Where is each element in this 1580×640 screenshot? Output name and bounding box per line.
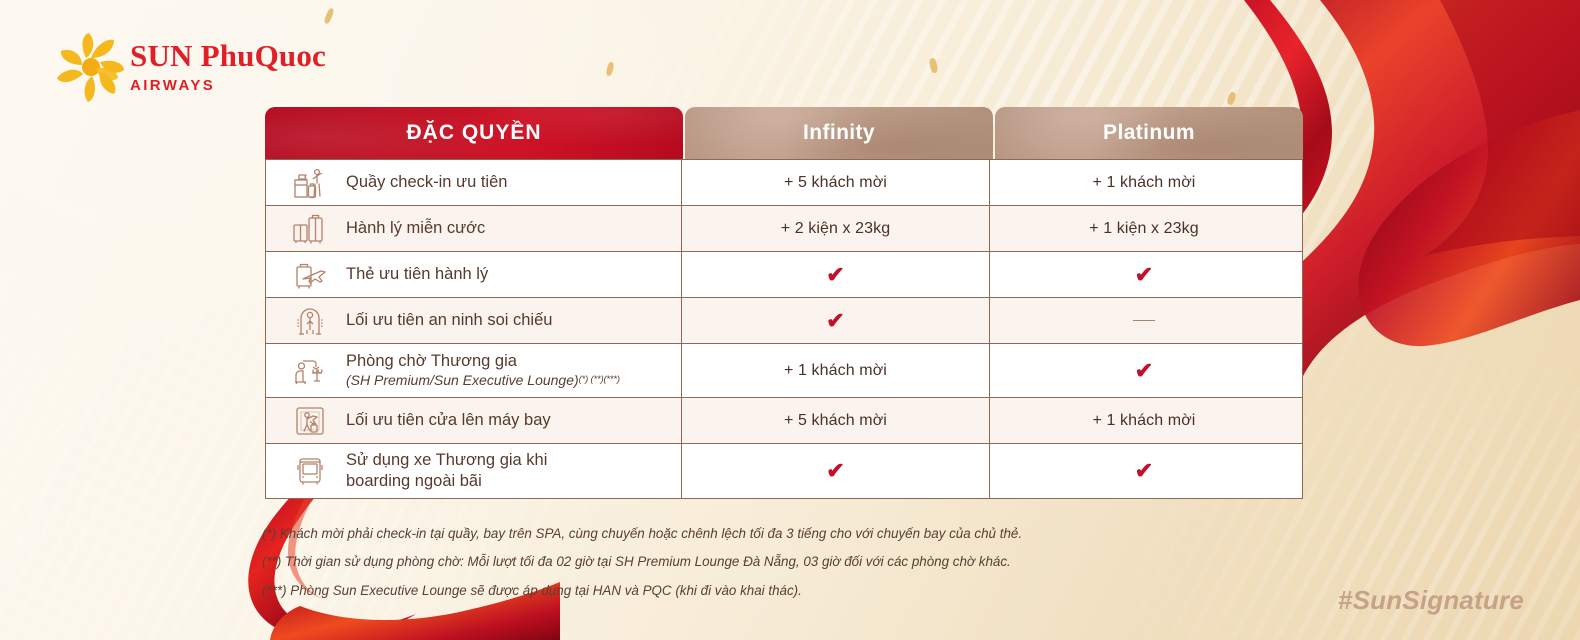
confetti-fleck bbox=[929, 57, 939, 73]
footnote-3: (***) Phòng Sun Executive Lounge sẽ được… bbox=[262, 584, 1262, 597]
confetti-fleck bbox=[605, 61, 614, 76]
value-text: + 2 kiện x 23kg bbox=[781, 220, 891, 238]
brand-wordmark: SUN PhuQuoc AIRWAYS bbox=[130, 40, 326, 94]
benefit-text: Quầy check-in ưu tiên bbox=[346, 172, 507, 193]
value-text: + 5 khách mời bbox=[784, 412, 887, 430]
column-header-infinity: Infinity bbox=[685, 107, 993, 159]
benefit-text: Hành lý miễn cước bbox=[346, 218, 485, 239]
benefit-title: Phòng chờ Thương gia bbox=[346, 351, 620, 372]
column-header-platinum: Platinum bbox=[995, 107, 1303, 159]
campaign-hashtag: #SunSignature bbox=[1338, 585, 1524, 616]
benefit-title: Quầy check-in ưu tiên bbox=[346, 172, 507, 193]
benefit-title: Lối ưu tiên an ninh soi chiếu bbox=[346, 310, 552, 331]
value-text: + 5 khách mời bbox=[784, 174, 887, 192]
table-row: Sử dụng xe Thương gia khiboarding ngoài … bbox=[266, 444, 1302, 498]
confetti-fleck bbox=[1226, 91, 1237, 106]
priority-baggage-tag-icon bbox=[288, 253, 332, 297]
table-body: Quầy check-in ưu tiên+ 5 khách mời+ 1 kh… bbox=[265, 159, 1303, 499]
column-header-infinity-label: Infinity bbox=[803, 121, 875, 145]
footnotes: (*) Khách mời phải check-in tại quầy, ba… bbox=[262, 527, 1262, 612]
check-icon: ✔ bbox=[1135, 360, 1154, 382]
value-cell-platinum: ✔ bbox=[990, 252, 1298, 297]
check-icon: ✔ bbox=[826, 264, 845, 286]
value-cell-platinum: + 1 kiện x 23kg bbox=[990, 206, 1298, 251]
luggage-icon bbox=[288, 207, 332, 251]
column-header-privilege-label: ĐẶC QUYỀN bbox=[406, 121, 541, 145]
benefit-cell: Phòng chờ Thương gia(SH Premium/Sun Exec… bbox=[266, 344, 682, 397]
confetti-fleck bbox=[1342, 223, 1354, 233]
value-text: + 1 kiện x 23kg bbox=[1089, 220, 1199, 238]
footnote-1: (*) Khách mời phải check-in tại quầy, ba… bbox=[262, 527, 1262, 540]
check-icon: ✔ bbox=[826, 310, 845, 332]
benefit-title: Thẻ ưu tiên hành lý bbox=[346, 264, 488, 285]
value-cell-platinum: + 1 khách mời bbox=[990, 160, 1298, 205]
brand-logo[interactable]: SUN PhuQuoc AIRWAYS bbox=[56, 32, 386, 104]
footnote-2: (**) Thời gian sử dụng phòng chờ: Mỗi lư… bbox=[262, 555, 1262, 568]
benefit-text: Lối ưu tiên an ninh soi chiếu bbox=[346, 310, 552, 331]
table-row: Lối ưu tiên cửa lên máy bay+ 5 khách mời… bbox=[266, 398, 1302, 444]
column-header-privilege: ĐẶC QUYỀN bbox=[265, 107, 683, 159]
benefit-cell: Lối ưu tiên cửa lên máy bay bbox=[266, 398, 682, 443]
check-icon: ✔ bbox=[1135, 264, 1154, 286]
benefit-title: Sử dụng xe Thương gia khi bbox=[346, 450, 547, 471]
value-cell-infinity: ✔ bbox=[682, 444, 990, 498]
benefit-subtitle: boarding ngoài bãi bbox=[346, 471, 547, 492]
benefit-title: Lối ưu tiên cửa lên máy bay bbox=[346, 410, 551, 431]
business-lounge-icon bbox=[288, 349, 332, 393]
table-row: Lối ưu tiên an ninh soi chiếu✔ bbox=[266, 298, 1302, 344]
brand-name: SUN PhuQuoc bbox=[130, 40, 326, 71]
value-cell-infinity: + 2 kiện x 23kg bbox=[682, 206, 990, 251]
table-row: Phòng chờ Thương gia(SH Premium/Sun Exec… bbox=[266, 344, 1302, 398]
value-cell-infinity: + 5 khách mời bbox=[682, 398, 990, 443]
value-cell-platinum: ✔ bbox=[990, 444, 1298, 498]
confetti-fleck bbox=[323, 7, 335, 24]
value-cell-platinum bbox=[990, 298, 1298, 343]
value-cell-infinity: + 1 khách mời bbox=[682, 344, 990, 397]
benefit-text: Sử dụng xe Thương gia khiboarding ngoài … bbox=[346, 450, 547, 491]
value-cell-infinity: + 5 khách mời bbox=[682, 160, 990, 205]
benefit-cell: Hành lý miễn cước bbox=[266, 206, 682, 251]
table-header-row: ĐẶC QUYỀN Infinity Platinum bbox=[265, 107, 1303, 159]
shuttle-bus-icon bbox=[288, 449, 332, 493]
check-icon: ✔ bbox=[1135, 460, 1154, 482]
benefit-cell: Thẻ ưu tiên hành lý bbox=[266, 252, 682, 297]
column-header-platinum-label: Platinum bbox=[1103, 121, 1195, 145]
benefit-cell: Lối ưu tiên an ninh soi chiếu bbox=[266, 298, 682, 343]
benefit-subtitle: (SH Premium/Sun Executive Lounge)(*) (**… bbox=[346, 372, 620, 390]
security-scanner-icon bbox=[288, 299, 332, 343]
value-text: + 1 khách mời bbox=[784, 362, 887, 380]
benefit-text: Phòng chờ Thương gia(SH Premium/Sun Exec… bbox=[346, 351, 620, 389]
check-in-counter-icon bbox=[288, 161, 332, 205]
confetti-fleck bbox=[1365, 0, 1373, 12]
promo-canvas: SUN PhuQuoc AIRWAYS ĐẶC QUYỀN Infinity P… bbox=[0, 0, 1580, 640]
table-row: Thẻ ưu tiên hành lý✔✔ bbox=[266, 252, 1302, 298]
benefit-cell: Quầy check-in ưu tiên bbox=[266, 160, 682, 205]
value-text: + 1 khách mời bbox=[1093, 174, 1196, 192]
value-text: + 1 khách mời bbox=[1093, 412, 1196, 430]
boarding-gate-icon bbox=[288, 399, 332, 443]
benefit-title: Hành lý miễn cước bbox=[346, 218, 485, 239]
benefit-text: Thẻ ưu tiên hành lý bbox=[346, 264, 488, 285]
value-cell-platinum: + 1 khách mời bbox=[990, 398, 1298, 443]
sun-flower-icon bbox=[56, 32, 126, 102]
table-row: Hành lý miễn cước+ 2 kiện x 23kg+ 1 kiện… bbox=[266, 206, 1302, 252]
brand-tagline: AIRWAYS bbox=[130, 77, 326, 94]
value-cell-platinum: ✔ bbox=[990, 344, 1298, 397]
footnote-markers: (*) (**)(***) bbox=[579, 374, 620, 385]
not-available-dash-icon bbox=[1133, 320, 1155, 322]
value-cell-infinity: ✔ bbox=[682, 298, 990, 343]
table-row: Quầy check-in ưu tiên+ 5 khách mời+ 1 kh… bbox=[266, 160, 1302, 206]
value-cell-infinity: ✔ bbox=[682, 252, 990, 297]
benefit-text: Lối ưu tiên cửa lên máy bay bbox=[346, 410, 551, 431]
benefit-cell: Sử dụng xe Thương gia khiboarding ngoài … bbox=[266, 444, 682, 498]
check-icon: ✔ bbox=[826, 460, 845, 482]
benefits-table: ĐẶC QUYỀN Infinity Platinum Quầy check-i… bbox=[265, 107, 1303, 499]
